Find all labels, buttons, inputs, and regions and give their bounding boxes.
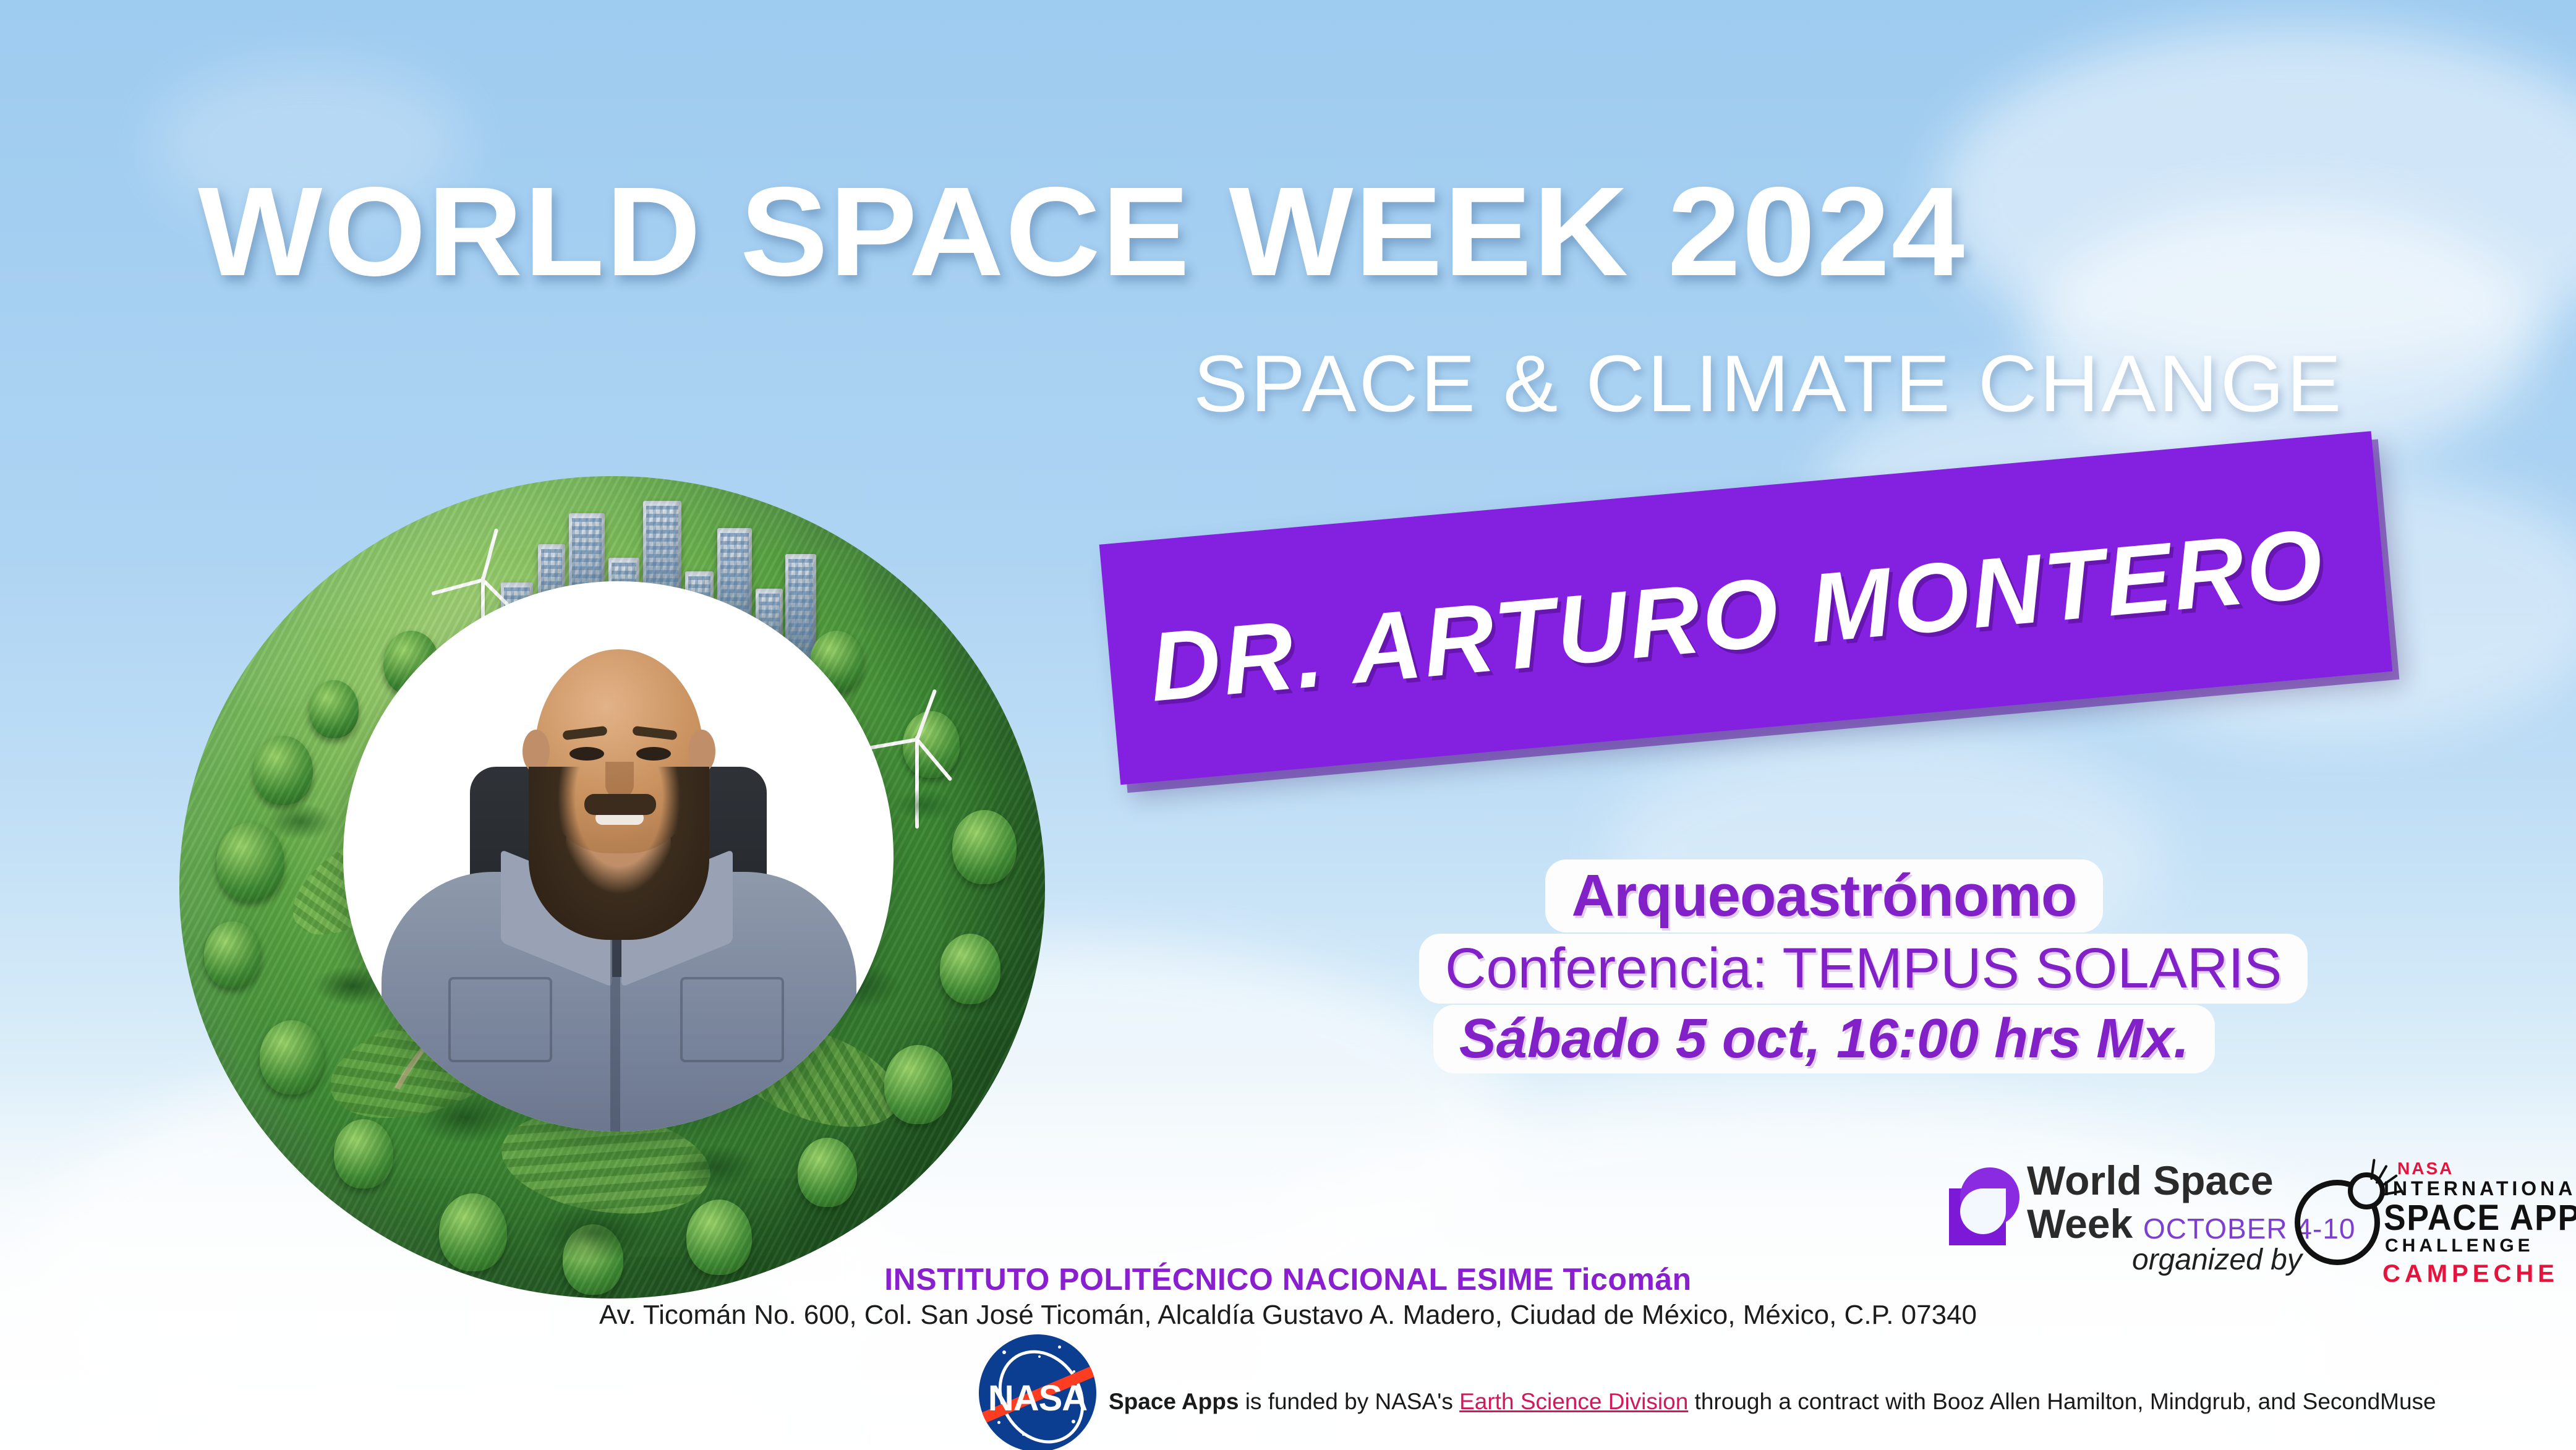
world-space-week-logo: World Space Week OCTOBER 4-10 organized …: [1947, 1160, 2293, 1265]
event-datetime: Sábado 5 oct, 16:00 hrs Mx.: [1433, 1005, 2215, 1073]
earth-science-division-link[interactable]: Earth Science Division: [1459, 1389, 1688, 1414]
funding-note-mid2: through a contract with Booz Allen Hamil…: [1688, 1389, 2436, 1414]
nasa-meatball-logo: NASA: [979, 1334, 1096, 1450]
funding-note: Space Apps is funded by NASA's Earth Sci…: [1109, 1389, 2436, 1415]
eye: [636, 747, 671, 761]
space-apps-nasa-label: NASA: [2397, 1159, 2454, 1179]
shirt-pocket: [680, 977, 784, 1062]
poster-canvas: WORLD SPACE WEEK 2024 SPACE & CLIMATE CH…: [0, 0, 2576, 1450]
eye: [569, 747, 604, 761]
poster-title: WORLD SPACE WEEK 2024: [198, 168, 2462, 295]
speaker-portrait-avatar: [343, 581, 893, 1132]
space-apps-label: SPACE APPS: [2384, 1197, 2576, 1239]
institution-address: Av. Ticomán No. 600, Col. San José Ticom…: [0, 1300, 2576, 1331]
world-space-week-mark-icon: [1947, 1165, 2019, 1245]
space-apps-challenge-label: CHALLENGE: [2385, 1235, 2534, 1256]
funding-note-prefix: Space Apps: [1109, 1389, 1239, 1414]
earth-globe-graphic: [158, 402, 1085, 1323]
poster-subtitle: SPACE & CLIMATE CHANGE: [1193, 343, 2455, 424]
shirt-pocket: [448, 977, 552, 1062]
talk-title: Conferencia: TEMPUS SOLARIS: [1419, 934, 2308, 1004]
mustache: [584, 794, 656, 815]
nasa-wordmark: NASA: [979, 1378, 1096, 1419]
shirt-placket: [610, 928, 620, 1132]
nose: [605, 762, 634, 799]
wsw-logo-line2: Week: [2027, 1203, 2133, 1244]
wsw-logo-line1: World Space: [2027, 1160, 2274, 1201]
funding-note-mid1: is funded by NASA's: [1239, 1389, 1459, 1414]
speaker-role: Arqueoastrónomo: [1545, 859, 2102, 932]
event-info-box: Arqueoastrónomo Conferencia: TEMPUS SOLA…: [1419, 859, 2229, 1075]
institution-name: INSTITUTO POLITÉCNICO NACIONAL ESIME Tic…: [0, 1261, 2576, 1297]
